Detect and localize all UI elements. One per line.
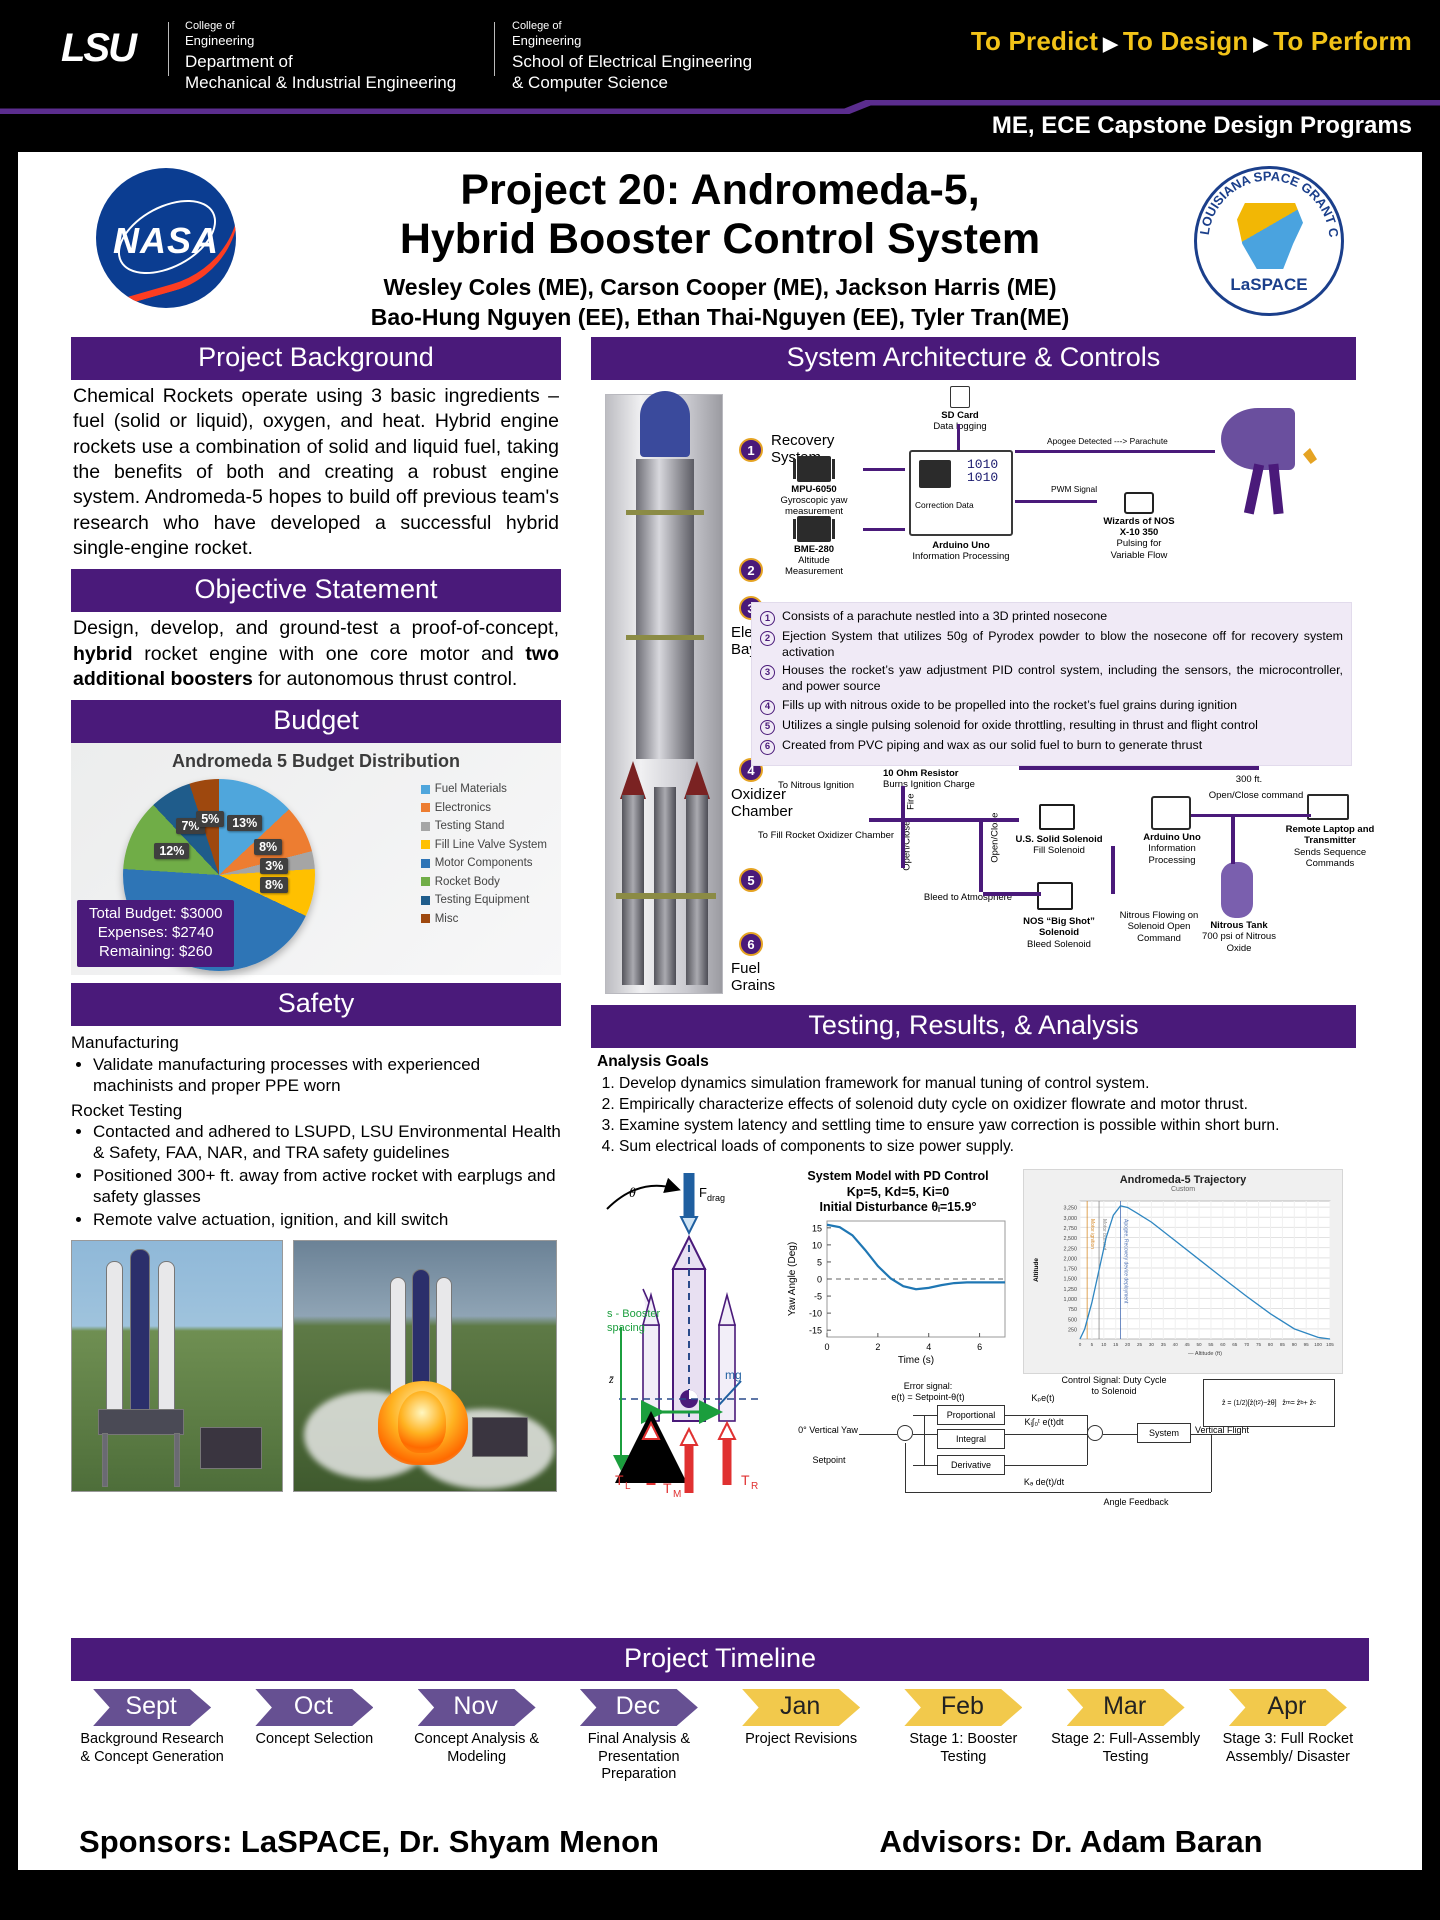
rocket-cad-image xyxy=(605,394,723,994)
block-sd-name: SD Card xyxy=(927,410,993,421)
list-item: Remote valve actuation, ignition, and ki… xyxy=(93,1209,561,1230)
free-body-diagram: θ F drag xyxy=(599,1167,774,1497)
svg-text:55: 55 xyxy=(1208,1342,1214,1347)
pd-title-3: Initial Disturbance θᵢ=15.9° xyxy=(783,1200,1013,1215)
block-arduino: Arduino Uno Information Processing xyxy=(903,540,1019,562)
timeline-month-chevron: Apr xyxy=(1229,1689,1347,1726)
control-signal-label: Control Signal: Duty Cycle to Solenoid xyxy=(1059,1375,1169,1397)
svg-text:2,500: 2,500 xyxy=(1064,1237,1078,1243)
bigshot-name: NOS “Big Shot” Solenoid xyxy=(1023,916,1095,938)
svg-text:1,000: 1,000 xyxy=(1064,1297,1078,1303)
fluid-line-6 xyxy=(1019,766,1259,770)
parachute-icon xyxy=(1221,408,1295,470)
dept2-engineering: Engineering xyxy=(512,33,752,48)
timeline-month-chevron: Sept xyxy=(93,1689,211,1726)
svg-text:250: 250 xyxy=(1068,1328,1077,1334)
timeline-item[interactable]: NovConcept Analysis & Modeling xyxy=(396,1689,558,1784)
block-sd-desc: Data logging xyxy=(927,421,993,432)
note-number: 4 xyxy=(760,700,775,715)
legend-swatch xyxy=(421,785,430,794)
solid-solenoid-name: U.S. Solid Solenoid xyxy=(1015,834,1102,845)
architecture-note: 1Consists of a parachute nestled into a … xyxy=(760,609,1343,626)
traj-chart-subtitle: Custom xyxy=(1024,1186,1342,1193)
dept1-line2: Mechanical & Industrial Engineering xyxy=(185,73,456,94)
svg-text:1,750: 1,750 xyxy=(1064,1267,1078,1273)
svg-text:Altitude: Altitude xyxy=(1033,1258,1040,1282)
svg-text:Apogee, Recovery device deploy: Apogee, Recovery device deployment xyxy=(1122,1219,1128,1304)
title-line-1: Project 20: Andromeda-5, xyxy=(258,166,1182,215)
arrow-pwm xyxy=(1015,500,1097,503)
safety-group-1-label: Manufacturing xyxy=(71,1032,561,1053)
svg-text:85: 85 xyxy=(1280,1342,1286,1347)
error-signal-eq: e(t) = Setpoint-θ(t) xyxy=(891,1392,964,1402)
svg-text:2: 2 xyxy=(875,1342,880,1352)
dept2-line1: School of Electrical Engineering xyxy=(512,52,752,73)
legend-label: Rocket Body xyxy=(435,876,500,888)
architecture-note: 4Fills up with nitrous oxide to be prope… xyxy=(760,698,1343,715)
safety-content: Manufacturing Validate manufacturing pro… xyxy=(71,1026,561,1230)
timeline-description: Stage 2: Full-Assembly Testing xyxy=(1045,1731,1207,1766)
note-text: Houses the rocket’s yaw adjustment PID c… xyxy=(782,663,1343,694)
svg-text:90: 90 xyxy=(1292,1342,1298,1347)
svg-text:L: L xyxy=(625,1481,631,1492)
photo-static-fire-test xyxy=(293,1240,557,1492)
safety-group-1-list: Validate manufacturing processes with ex… xyxy=(75,1054,561,1097)
list-item: Develop dynamics simulation framework fo… xyxy=(619,1074,1352,1095)
to-fill-label: To Fill Rocket Oxidizer Chamber xyxy=(751,830,901,841)
timeline-month-chevron: Feb xyxy=(904,1689,1022,1726)
right-column: System Architecture & Controls 1 Reco xyxy=(591,337,1356,1523)
photo-rocket-on-stand xyxy=(71,1240,283,1492)
legend-label: Testing Equipment xyxy=(435,894,530,906)
svg-text:s - Booster: s - Booster xyxy=(607,1308,661,1320)
svg-text:2,000: 2,000 xyxy=(1064,1257,1078,1263)
fluid-line-4 xyxy=(979,818,983,892)
background-text: Chemical Rockets operate using 3 basic i… xyxy=(71,380,561,561)
fluid-line-9 xyxy=(1191,814,1311,817)
nasa-logo-icon: NASA xyxy=(96,168,236,308)
svg-text:500: 500 xyxy=(1068,1318,1077,1324)
timeline-description: Stage 1: Booster Testing xyxy=(882,1731,1044,1766)
timeline-month-chevron: Jan xyxy=(742,1689,860,1726)
svg-text:-15: -15 xyxy=(809,1326,822,1336)
list-item: Contacted and adhered to LSUPD, LSU Envi… xyxy=(93,1121,561,1164)
objective-t2: rocket engine with one core motor and xyxy=(133,643,526,665)
budget-expenses: Expenses: $2740 xyxy=(89,923,222,942)
section-header-objective: Objective Statement xyxy=(71,569,561,612)
svg-text:105: 105 xyxy=(1326,1342,1334,1347)
block-bme280: BME-280 Altitude Measurement xyxy=(771,516,857,578)
svg-text:25: 25 xyxy=(1137,1342,1143,1347)
timeline-description: Concept Analysis & Modeling xyxy=(396,1731,558,1766)
architecture-note: 3Houses the rocket’s yaw adjustment PID … xyxy=(760,663,1343,694)
traj-chart-svg: 3,2503,0002,7502,5002,2502,0001,7501,500… xyxy=(1024,1193,1342,1369)
timeline-item[interactable]: AprStage 3: Full Rocket Assembly/ Disast… xyxy=(1207,1689,1369,1784)
authors-line-2: Bao-Hung Nguyen (EE), Ethan Thai-Nguyen … xyxy=(233,302,1207,332)
budget-remaining: Remaining: $260 xyxy=(89,942,222,961)
section-header-testing: Testing, Results, & Analysis xyxy=(591,1005,1356,1048)
note-number: 1 xyxy=(760,611,775,626)
timeline-description: Stage 3: Full Rocket Assembly/ Disaster xyxy=(1207,1731,1369,1766)
legend-swatch xyxy=(421,877,430,886)
block-wizards-name: Wizards of NOS X-10 350 xyxy=(1099,516,1179,538)
arrow-mpu-to-arduino xyxy=(863,468,905,471)
architecture-diagram: 1 RecoverySystem 2 3 ElectronicsBay 4 Ox… xyxy=(591,380,1356,1005)
svg-text:95: 95 xyxy=(1304,1342,1310,1347)
chip-icon-bme xyxy=(797,516,831,542)
fluid-line-1 xyxy=(869,818,1019,822)
analysis-goals: Analysis Goals Develop dynamics simulati… xyxy=(591,1048,1356,1157)
legend-item: Electronics xyxy=(421,802,547,814)
svg-text:-10: -10 xyxy=(809,1309,822,1319)
lsu-logo: LSU xyxy=(48,24,148,72)
derivative-block: Derivative xyxy=(937,1455,1005,1475)
solid-solenoid-icon xyxy=(1039,804,1075,830)
dept-mechanical-block: College of Engineering Department of Mec… xyxy=(185,20,456,94)
svg-text:15: 15 xyxy=(812,1223,822,1233)
svg-text:Yaw Angle (Deg): Yaw Angle (Deg) xyxy=(787,1242,798,1316)
ki-label: Kᵢ∫₀ᵗ e(t)dt xyxy=(1009,1417,1079,1428)
advisors-text: Advisors: Dr. Adam Baran xyxy=(720,1824,1422,1860)
tagline-perform: To Perform xyxy=(1273,26,1412,56)
legend-swatch xyxy=(421,822,430,831)
pie-slice-label: 3% xyxy=(260,858,288,874)
svg-text:100: 100 xyxy=(1314,1342,1322,1347)
fluid-line-8 xyxy=(1231,816,1235,864)
nitrous-tank-label: Nitrous Tank 700 psi of Nitrous Oxide xyxy=(1189,920,1289,954)
svg-text:z̄: z̄ xyxy=(608,1372,614,1386)
poster-title-row: NASA Project 20: Andromeda-5, Hybrid Boo… xyxy=(18,152,1422,337)
note-text: Consists of a parachute nestled into a 3… xyxy=(782,609,1107,625)
pie-slice-label: 8% xyxy=(254,839,282,855)
arrow-arduino-to-sd xyxy=(957,424,960,450)
budget-summary-box: Total Budget: $3000 Expenses: $2740 Rema… xyxy=(77,900,234,968)
pd-chart-svg: 151050-5-10-150246Time (s)Yaw Angle (Deg… xyxy=(783,1215,1013,1365)
fluid-line-3 xyxy=(901,818,905,868)
to-nitrous-label: To Nitrous Ignition xyxy=(761,780,871,791)
tank-sub: 700 psi of Nitrous Oxide xyxy=(1202,931,1276,953)
nitrous-tank-icon xyxy=(1221,862,1253,918)
bigshot-label: NOS “Big Shot” Solenoid Bleed Solenoid xyxy=(1007,916,1111,950)
timeline-month-chevron: Mar xyxy=(1067,1689,1185,1726)
svg-text:— Altitude (ft): — Altitude (ft) xyxy=(1188,1351,1222,1357)
note-text: Ejection System that utilizes 50g of Pyr… xyxy=(782,629,1343,660)
open-close-cmd-label: Open/Close command xyxy=(1191,790,1321,801)
system-block: System xyxy=(1137,1423,1191,1443)
timeline-description: Background Research & Concept Generation xyxy=(71,1731,233,1766)
section-header-budget: Budget xyxy=(71,700,561,743)
list-item: Positioned 300+ ft. away from active roc… xyxy=(93,1165,561,1208)
note-number: 5 xyxy=(760,720,775,735)
note-number: 6 xyxy=(760,740,775,755)
legend-item: Fuel Materials xyxy=(421,783,547,795)
fbd-svg: θ F drag xyxy=(599,1167,774,1497)
integral-block: Integral xyxy=(937,1429,1005,1449)
solid-solenoid-label: U.S. Solid Solenoid Fill Solenoid xyxy=(1009,834,1109,857)
sd-card-icon xyxy=(950,386,970,408)
objective-t1: Design, develop, and ground-test a proof… xyxy=(73,617,559,639)
laspace-logo-icon: LOUISIANA SPACE GRANT CONSORTIUM LaSPACE xyxy=(1194,166,1344,316)
legend-label: Misc xyxy=(435,913,459,925)
svg-text:35: 35 xyxy=(1161,1342,1167,1347)
dept1-engineering: Engineering xyxy=(185,33,456,48)
timeline-item[interactable]: MarStage 2: Full-Assembly Testing xyxy=(1045,1689,1207,1784)
timeline-description: Project Revisions xyxy=(720,1731,882,1749)
timeline-heading: Project Timeline xyxy=(71,1638,1369,1681)
list-item: Sum electrical loads of components to si… xyxy=(619,1137,1352,1158)
svg-text:F: F xyxy=(699,1185,707,1200)
svg-text:5: 5 xyxy=(1091,1342,1094,1347)
timeline-item[interactable]: JanProject Revisions xyxy=(720,1689,882,1784)
note-text: Created from PVC piping and wax as our s… xyxy=(782,738,1202,754)
pwm-edge-label: PWM Signal xyxy=(1051,484,1097,494)
laptop-name: Remote Laptop and Transmitter xyxy=(1286,824,1375,846)
section-header-safety: Safety xyxy=(71,983,561,1026)
laspace-wordmark: LaSPACE xyxy=(1197,275,1341,295)
timeline-month-chevron: Dec xyxy=(580,1689,698,1726)
legend-item: Testing Equipment xyxy=(421,894,547,906)
svg-text:30: 30 xyxy=(1149,1342,1155,1347)
block-arduino-name: Arduino Uno xyxy=(903,540,1019,551)
arduino-uno-fluid-icon xyxy=(1151,796,1191,830)
results-figures: θ F drag xyxy=(591,1163,1356,1523)
proportional-block: Proportional xyxy=(937,1405,1005,1425)
svg-text:R: R xyxy=(751,1481,758,1492)
svg-text:10: 10 xyxy=(812,1241,822,1251)
legend-item: Rocket Body xyxy=(421,876,547,888)
poster-canvas: NASA Project 20: Andromeda-5, Hybrid Boo… xyxy=(18,152,1422,1870)
pie-slice-label: 8% xyxy=(260,877,288,893)
svg-text:spacing: spacing xyxy=(607,1322,645,1334)
svg-text:M: M xyxy=(673,1489,681,1497)
data-bits-icon: 10101010 xyxy=(967,458,998,484)
left-column: Project Background Chemical Rockets oper… xyxy=(71,337,561,1492)
list-item: Empirically characterize effects of sole… xyxy=(619,1095,1352,1116)
svg-text:40: 40 xyxy=(1173,1342,1179,1347)
svg-text:6: 6 xyxy=(977,1342,982,1352)
timeline-items: SeptBackground Research & Concept Genera… xyxy=(71,1689,1369,1784)
tagline: To Predict▶To Design▶To Perform xyxy=(971,26,1412,57)
legend-swatch xyxy=(421,840,430,849)
svg-text:50: 50 xyxy=(1196,1342,1202,1347)
fluid-line-7 xyxy=(1111,846,1115,894)
rocket-body-icon-2 xyxy=(1268,464,1283,515)
tagline-design: To Design xyxy=(1123,26,1249,56)
note-number: 3 xyxy=(760,665,775,680)
header-subtitle: ME, ECE Capstone Design Programs xyxy=(992,112,1412,140)
note-number: 2 xyxy=(760,631,775,646)
arrow-bme-to-arduino xyxy=(863,528,905,531)
timeline-item[interactable]: OctConcept Selection xyxy=(233,1689,395,1784)
summing-junction-1 xyxy=(897,1425,913,1441)
svg-text:0: 0 xyxy=(824,1342,829,1352)
solenoid-icon xyxy=(1124,492,1154,514)
fluid-system-diagram: 10 Ohm Resistor Burns Ignition Charge To… xyxy=(751,770,1352,995)
legend-item: Motor Components xyxy=(421,857,547,869)
legend-swatch xyxy=(421,896,430,905)
svg-text:0: 0 xyxy=(817,1275,822,1285)
pie-slice-label: 12% xyxy=(154,843,189,859)
arduino-fluid-label: Arduino Uno Information Processing xyxy=(1127,832,1217,866)
timeline-description: Concept Selection xyxy=(233,1731,395,1749)
legend-label: Testing Stand xyxy=(435,820,505,832)
author-list: Wesley Coles (ME), Carson Cooper (ME), J… xyxy=(233,272,1207,333)
tank-name: Nitrous Tank xyxy=(1210,920,1267,931)
svg-text:3,250: 3,250 xyxy=(1064,1206,1078,1212)
section-header-architecture: System Architecture & Controls xyxy=(591,337,1356,380)
dept1-college: College of xyxy=(185,20,456,33)
arduino-fluid-sub: Information Processing xyxy=(1148,843,1196,865)
svg-text:4: 4 xyxy=(926,1342,931,1352)
page-title: Project 20: Andromeda-5, Hybrid Booster … xyxy=(258,166,1182,265)
title-line-2: Hybrid Booster Control System xyxy=(258,215,1182,264)
triangle-icon-2: ▶ xyxy=(1253,33,1268,56)
timeline-month-chevron: Nov xyxy=(418,1689,536,1726)
tagline-predict: To Predict xyxy=(971,26,1098,56)
electronics-block-diagram: MPU-6050 Gyroscopic yaw measurement BME-… xyxy=(751,388,1352,598)
laptop-sub: Sends Sequence Commands xyxy=(1294,847,1366,869)
safety-group-2-list: Contacted and adhered to LSUPD, LSU Envi… xyxy=(75,1121,561,1230)
project-timeline: Project Timeline SeptBackground Research… xyxy=(71,1638,1369,1784)
kd-label: Kₔ de(t)/dt xyxy=(1009,1477,1079,1488)
authors-line-1: Wesley Coles (ME), Carson Cooper (ME), J… xyxy=(233,272,1207,302)
correction-data-label: Correction Data xyxy=(915,500,974,510)
fire-label: Fire xyxy=(905,790,916,814)
safety-group-2-label: Rocket Testing xyxy=(71,1100,561,1121)
list-item: Validate manufacturing processes with ex… xyxy=(93,1054,561,1097)
open-close-label-2: Open/Close xyxy=(989,808,1000,868)
distance-label: 300 ft. xyxy=(1219,774,1279,785)
svg-text:75: 75 xyxy=(1256,1342,1262,1347)
pid-control-block-diagram: Error signal: e(t) = Setpoint-θ(t) 0° Ve… xyxy=(791,1381,1343,1521)
legend-label: Motor Components xyxy=(435,857,533,869)
svg-text:mg: mg xyxy=(725,1368,742,1382)
page-header: LSU College of Engineering Department of… xyxy=(0,0,1440,105)
resistor-name: 10 Ohm Resistor xyxy=(883,768,959,779)
legend-swatch xyxy=(421,914,430,923)
section-header-background: Project Background xyxy=(71,337,561,380)
svg-text:45: 45 xyxy=(1185,1342,1191,1347)
timeline-month-chevron: Oct xyxy=(255,1689,373,1726)
chip-icon-mpu xyxy=(797,456,831,482)
svg-text:Time (s): Time (s) xyxy=(898,1355,934,1365)
objective-t3: for autonomous thrust control. xyxy=(253,668,517,690)
budget-chart-title: Andromeda 5 Budget Distribution xyxy=(71,751,561,772)
svg-text:1,250: 1,250 xyxy=(1064,1287,1078,1293)
fluid-line-2 xyxy=(901,786,905,820)
budget-chart: Andromeda 5 Budget Distribution 13%8%3%8… xyxy=(71,743,561,975)
error-signal-title: Error signal: xyxy=(904,1381,953,1391)
svg-text:-5: -5 xyxy=(814,1292,822,1302)
svg-text:drag: drag xyxy=(707,1193,725,1203)
svg-text:2,750: 2,750 xyxy=(1064,1226,1078,1232)
header-band xyxy=(0,100,1440,112)
sponsors-text: Sponsors: LaSPACE, Dr. Shyam Menon xyxy=(18,1824,720,1860)
block-bme280-desc: Altitude Measurement xyxy=(771,555,857,577)
svg-text:T: T xyxy=(741,1472,750,1488)
legend-swatch xyxy=(421,859,430,868)
pd-control-chart: System Model with PD Control Kp=5, Kd=5,… xyxy=(783,1169,1013,1374)
traj-chart-title: Andromeda-5 Trajectory xyxy=(1024,1170,1342,1186)
bigshot-solenoid-icon xyxy=(1037,882,1073,910)
block-mpu6050: MPU-6050 Gyroscopic yaw measurement xyxy=(771,456,857,518)
dept2-line2: & Computer Science xyxy=(512,73,752,94)
pie-slice-label: 5% xyxy=(196,811,224,827)
svg-text:15: 15 xyxy=(1113,1342,1119,1347)
solid-solenoid-sub: Fill Solenoid xyxy=(1033,845,1085,856)
block-wizards-desc: Pulsing for Variable Flow xyxy=(1099,538,1179,560)
laptop-label: Remote Laptop and Transmitter Sends Sequ… xyxy=(1283,824,1377,870)
note-text: Utilizes a single pulsing solenoid for o… xyxy=(782,718,1258,734)
dept1-line1: Department of xyxy=(185,52,456,73)
legend-swatch xyxy=(421,803,430,812)
svg-text:65: 65 xyxy=(1232,1342,1238,1347)
svg-text:Motor ignition: Motor ignition xyxy=(1089,1219,1095,1249)
pie-slice-label: 13% xyxy=(227,815,262,831)
photo-gallery xyxy=(71,1240,561,1492)
error-signal-label: Error signal: e(t) = Setpoint-θ(t) xyxy=(863,1381,993,1403)
svg-text:T: T xyxy=(663,1480,672,1496)
timeline-description: Final Analysis & Presentation Preparatio… xyxy=(558,1731,720,1784)
legend-label: Fill Line Valve System xyxy=(435,839,547,851)
legend-label: Electronics xyxy=(435,802,491,814)
budget-total: Total Budget: $3000 xyxy=(89,904,222,923)
architecture-note: 6Created from PVC piping and wax as our … xyxy=(760,738,1343,755)
svg-text:10: 10 xyxy=(1101,1342,1107,1347)
nasa-wordmark: NASA xyxy=(96,220,236,262)
pd-title-1: System Model with PD Control xyxy=(783,1169,1013,1184)
feedback-label: Angle Feedback xyxy=(1091,1497,1181,1508)
svg-text:2,250: 2,250 xyxy=(1064,1247,1078,1253)
dept2-college: College of xyxy=(512,20,752,33)
timeline-item[interactable]: SeptBackground Research & Concept Genera… xyxy=(71,1689,233,1784)
dept-electrical-block: College of Engineering School of Electri… xyxy=(512,20,752,94)
logo-divider-2 xyxy=(494,22,495,76)
remote-laptop-icon xyxy=(1307,794,1349,820)
fluid-line-5 xyxy=(983,892,1041,896)
arduino-chip-icon xyxy=(919,460,951,488)
nosecone-eject-icon xyxy=(1303,448,1317,464)
timeline-item[interactable]: DecFinal Analysis & Presentation Prepara… xyxy=(558,1689,720,1784)
svg-text:70: 70 xyxy=(1244,1342,1250,1347)
arrow-apogee xyxy=(1015,450,1215,453)
resistor-desc: Burns Ignition Charge xyxy=(883,779,975,790)
analysis-goals-list: Develop dynamics simulation framework fo… xyxy=(619,1074,1352,1158)
svg-text:3,000: 3,000 xyxy=(1064,1216,1078,1222)
block-arduino-desc: Information Processing xyxy=(903,551,1019,562)
poster-footer: Sponsors: LaSPACE, Dr. Shyam Menon Advis… xyxy=(18,1824,1422,1860)
setpoint-value-label: 0° Vertical Yaw xyxy=(791,1425,865,1436)
legend-item: Misc xyxy=(421,913,547,925)
architecture-note: 2Ejection System that utilizes 50g of Py… xyxy=(760,629,1343,660)
svg-text:80: 80 xyxy=(1268,1342,1274,1347)
setpoint-label: Setpoint xyxy=(799,1455,859,1466)
summing-junction-2 xyxy=(1087,1425,1103,1441)
timeline-item[interactable]: FebStage 1: Booster Testing xyxy=(882,1689,1044,1784)
apogee-edge-label: Apogee Detected ---> Parachute xyxy=(1047,436,1168,446)
svg-text:750: 750 xyxy=(1068,1308,1077,1314)
block-sd-card: SD Card Data logging xyxy=(927,386,993,432)
block-mpu6050-name: MPU-6050 xyxy=(771,484,857,495)
pd-title-2: Kp=5, Kd=5, Ki=0 xyxy=(783,1185,1013,1200)
svg-text:20: 20 xyxy=(1125,1342,1131,1347)
arduino-fluid-name: Arduino Uno xyxy=(1143,832,1201,843)
architecture-note: 5Utilizes a single pulsing solenoid for … xyxy=(760,718,1343,735)
rocket-body-icon-1 xyxy=(1244,464,1264,515)
objective-text: Design, develop, and ground-test a proof… xyxy=(71,612,561,692)
legend-item: Fill Line Valve System xyxy=(421,839,547,851)
svg-text:T: T xyxy=(615,1472,624,1488)
